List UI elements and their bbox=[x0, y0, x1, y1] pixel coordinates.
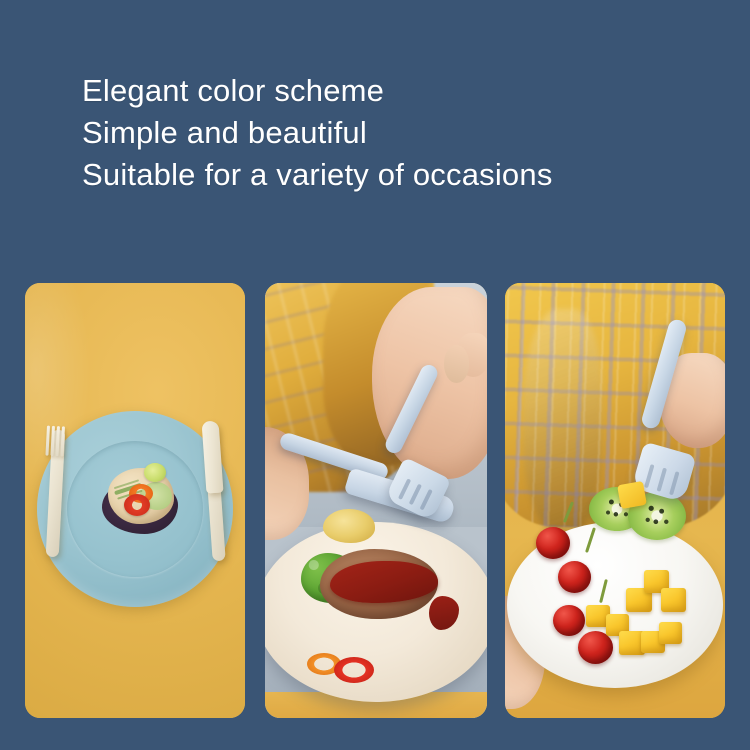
cherry bbox=[578, 631, 613, 664]
mango-cube bbox=[661, 588, 686, 612]
cream-fork-head bbox=[45, 426, 66, 465]
scene-blue-plate bbox=[25, 283, 245, 718]
mango-cube-on-fork bbox=[618, 481, 648, 509]
red-pepper-ring bbox=[124, 494, 150, 516]
cherry bbox=[536, 527, 570, 559]
fork-slot bbox=[644, 464, 654, 488]
product-photo-panel-1 bbox=[25, 283, 245, 718]
red-pepper-ring bbox=[334, 657, 374, 683]
middle-finger bbox=[444, 345, 470, 383]
scene-cutting-steak bbox=[265, 283, 487, 718]
lime-slice bbox=[144, 463, 166, 482]
scene-fruit-plate bbox=[505, 283, 725, 718]
fork-slot bbox=[669, 472, 679, 496]
product-photo-gallery bbox=[0, 0, 750, 750]
plated-fish-dish bbox=[98, 462, 184, 540]
fork-slot bbox=[408, 484, 421, 506]
grilled-corn bbox=[323, 509, 375, 543]
product-marketing-image: Elegant color scheme Simple and beautifu… bbox=[0, 0, 750, 750]
mango-cube bbox=[659, 622, 682, 644]
cherry bbox=[558, 561, 591, 593]
product-photo-panel-2 bbox=[265, 283, 487, 718]
fork-tine bbox=[60, 426, 65, 456]
fork-slot bbox=[397, 478, 410, 500]
product-photo-panel-3 bbox=[505, 283, 725, 718]
fork-slot bbox=[657, 468, 667, 492]
fork-slot bbox=[419, 489, 432, 511]
